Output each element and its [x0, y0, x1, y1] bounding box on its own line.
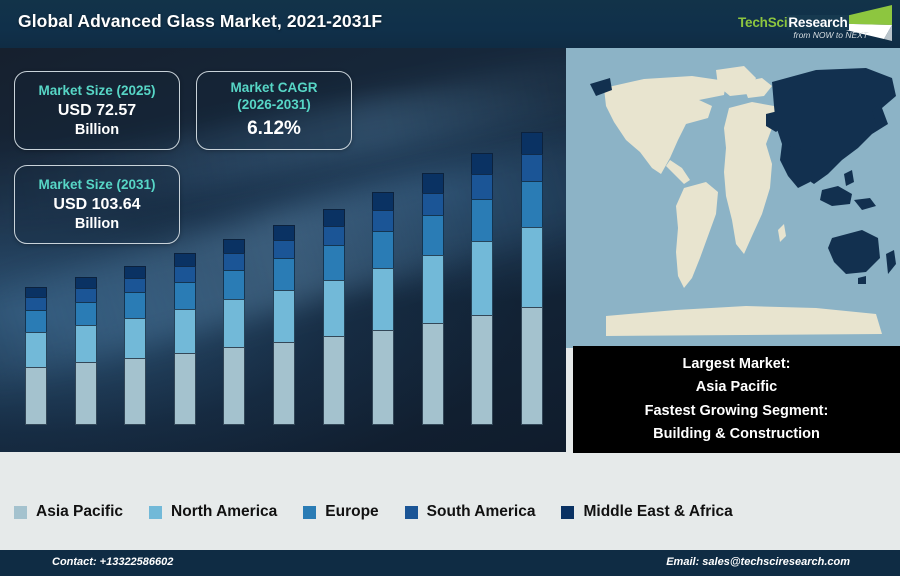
- bar-segment-south-america: [471, 174, 493, 198]
- bar-segment-north-america: [75, 325, 97, 363]
- chart-panel: Market Size (2025) USD 72.57 Billion Mar…: [0, 48, 566, 452]
- legend-label: South America: [427, 503, 536, 521]
- bar-segment-south-america: [75, 288, 97, 301]
- callout-line-largest-market-value: Asia Pacific: [696, 376, 777, 399]
- callout-line-largest-market-label: Largest Market:: [683, 353, 791, 376]
- bar-segment-asia-pacific: [372, 330, 394, 425]
- bar-segment-asia-pacific: [25, 367, 47, 425]
- bar-2025: [223, 239, 245, 425]
- bar-segment-middle-east-africa: [323, 209, 345, 225]
- chart-legend: Asia PacificNorth AmericaEuropeSouth Ame…: [0, 480, 900, 544]
- bar-segment-europe: [471, 199, 493, 242]
- bar-segment-north-america: [471, 241, 493, 315]
- map-landmass: [606, 306, 882, 336]
- legend-item-asia-pacific[interactable]: Asia Pacific: [14, 503, 123, 521]
- bar-segment-middle-east-africa: [471, 153, 493, 174]
- bar-segment-asia-pacific: [471, 315, 493, 425]
- bar-segment-south-america: [521, 154, 543, 180]
- map-highlight-asia-pacific: [844, 170, 854, 186]
- legend-swatch-icon: [405, 506, 418, 519]
- legend-label: North America: [171, 503, 277, 521]
- bar-segment-south-america: [25, 297, 47, 310]
- bar-segment-middle-east-africa: [124, 266, 146, 278]
- legend-label: Europe: [325, 503, 378, 521]
- bar-segment-europe: [521, 181, 543, 227]
- bar-2021: [25, 287, 47, 425]
- map-highlight-asia-pacific: [886, 250, 896, 274]
- bar-2028F: [372, 192, 394, 425]
- bar-segment-north-america: [273, 290, 295, 342]
- techsci-research-logo: TechSciResearch from NOW to NEXT: [716, 3, 892, 45]
- bar-2022: [75, 277, 97, 425]
- footer-email: Email: sales@techsciresearch.com: [666, 556, 850, 568]
- bar-segment-north-america: [372, 268, 394, 330]
- legend-item-middle-east-africa[interactable]: Middle East & Africa: [561, 503, 732, 521]
- callout-line-fastest-segment-label: Fastest Growing Segment:: [645, 400, 829, 423]
- infographic-root: Global Advanced Glass Market, 2021-2031F…: [0, 0, 900, 576]
- world-map: [566, 48, 900, 348]
- bar-segment-north-america: [521, 227, 543, 308]
- bar-segment-middle-east-africa: [273, 225, 295, 240]
- footer-bar: Contact: +13322586602 Email: sales@techs…: [0, 550, 900, 576]
- bar-segment-middle-east-africa: [372, 192, 394, 210]
- legend-label: Asia Pacific: [36, 503, 123, 521]
- bar-segment-middle-east-africa: [223, 239, 245, 253]
- bar-segment-middle-east-africa: [422, 173, 444, 192]
- map-landmass: [666, 160, 690, 184]
- bar-segment-north-america: [174, 309, 196, 353]
- bar-segment-asia-pacific: [323, 336, 345, 425]
- legend-swatch-icon: [303, 506, 316, 519]
- bar-segment-south-america: [422, 193, 444, 216]
- bar-segment-north-america: [323, 280, 345, 337]
- legend-item-north-america[interactable]: North America: [149, 503, 277, 521]
- bar-segment-north-america: [25, 332, 47, 367]
- page-title: Global Advanced Glass Market, 2021-2031F: [18, 11, 382, 32]
- bar-segment-europe: [372, 231, 394, 268]
- bar-segment-europe: [174, 282, 196, 309]
- bar-segment-south-america: [273, 240, 295, 258]
- bar-segment-asia-pacific: [223, 347, 245, 425]
- logo-brand-second: Research: [787, 15, 848, 30]
- bar-segment-south-america: [174, 266, 196, 282]
- bar-segment-europe: [323, 245, 345, 279]
- header-bar: Global Advanced Glass Market, 2021-2031F…: [0, 0, 900, 48]
- map-highlight-asia-pacific: [854, 198, 876, 210]
- bar-segment-south-america: [323, 226, 345, 246]
- bar-segment-asia-pacific: [75, 362, 97, 425]
- bar-segment-south-america: [124, 278, 146, 292]
- bar-segment-north-america: [124, 318, 146, 358]
- bar-segment-asia-pacific: [521, 307, 543, 425]
- map-landmass: [778, 224, 786, 242]
- bar-2027F: [323, 209, 345, 425]
- bar-2026E: [273, 225, 295, 425]
- callout-line-fastest-segment-value: Building & Construction: [653, 423, 820, 446]
- bar-segment-south-america: [223, 253, 245, 270]
- bar-segment-europe: [273, 258, 295, 290]
- legend-item-south-america[interactable]: South America: [405, 503, 536, 521]
- legend-item-europe[interactable]: Europe: [303, 503, 378, 521]
- footer-contact: Contact: +13322586602: [52, 556, 173, 568]
- map-highlight-asia-pacific: [858, 276, 866, 284]
- bar-segment-middle-east-africa: [174, 253, 196, 266]
- map-landmass: [604, 76, 726, 174]
- bar-segment-middle-east-africa: [521, 132, 543, 154]
- legend-label: Middle East & Africa: [583, 503, 732, 521]
- legend-swatch-icon: [149, 506, 162, 519]
- bar-segment-asia-pacific: [273, 342, 295, 425]
- logo-tagline: from NOW to NEXT: [793, 30, 868, 40]
- map-highlight-asia-pacific: [820, 186, 852, 206]
- bar-segment-north-america: [223, 299, 245, 347]
- bar-segment-middle-east-africa: [75, 277, 97, 288]
- bar-segment-europe: [124, 292, 146, 317]
- legend-swatch-icon: [14, 506, 27, 519]
- logo-brand-first: TechSci: [738, 15, 787, 30]
- bar-segment-europe: [422, 215, 444, 255]
- legend-swatch-icon: [561, 506, 574, 519]
- bar-segment-asia-pacific: [422, 323, 444, 425]
- bar-2029F: [422, 173, 444, 425]
- bar-2030F: [471, 153, 493, 425]
- bar-2023: [124, 266, 146, 425]
- bar-2031F: [521, 132, 543, 425]
- map-highlight-asia-pacific: [828, 230, 880, 274]
- bar-segment-north-america: [422, 255, 444, 323]
- bar-2024: [174, 253, 196, 425]
- bar-segment-south-america: [372, 210, 394, 231]
- bar-segment-europe: [223, 270, 245, 300]
- callout-box: Largest Market: Asia Pacific Fastest Gro…: [573, 346, 900, 453]
- bar-segment-europe: [25, 310, 47, 332]
- bar-segment-middle-east-africa: [25, 287, 47, 298]
- stacked-bar-plot: [0, 48, 566, 452]
- bar-segment-asia-pacific: [174, 353, 196, 425]
- bar-segment-europe: [75, 302, 97, 325]
- bar-segment-asia-pacific: [124, 358, 146, 425]
- map-landmass: [676, 182, 718, 288]
